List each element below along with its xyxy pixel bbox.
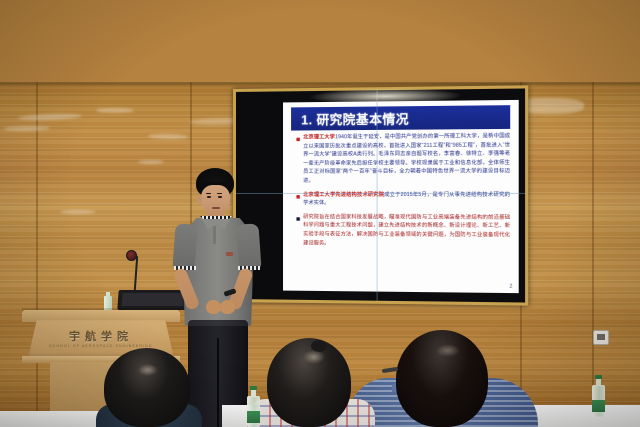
presenter-mouth (212, 207, 220, 209)
slide-title-bar: 1. 研究院基本情况 (291, 105, 510, 130)
audience-member-front-left-head (104, 348, 190, 427)
audience-member-center-head (267, 338, 351, 427)
wall-glare (96, 108, 134, 113)
presentation-slide: 1. 研究院基本情况 ■ 北京理工大学1940年诞生于延安，是中国共产党创办的第… (283, 100, 519, 293)
presenter-ear (197, 195, 202, 204)
bottle-label (592, 400, 605, 412)
water-bottle-table-right (592, 385, 605, 417)
audience-member-right-head (396, 330, 488, 427)
wall-glare (138, 160, 164, 164)
presenter-leg-seam (217, 338, 219, 427)
presenter-eye (207, 196, 211, 198)
video-wall-display[interactable]: 1. 研究院基本情况 ■ 北京理工大学1940年诞生于延安，是中国共产党创办的第… (233, 85, 528, 305)
hair-highlight (138, 364, 158, 376)
light-switch[interactable] (593, 330, 609, 345)
presenter-eye (218, 196, 222, 198)
presenter-sleeve (172, 223, 197, 270)
presenter-sleeve (236, 223, 261, 270)
presenter-placket (213, 226, 216, 244)
presenter-eyebrow (217, 193, 222, 194)
hair-highlight (436, 344, 460, 357)
hair-highlight (303, 350, 325, 364)
presenter-shirt-logo (226, 252, 233, 256)
podium-org-name: 宇航学院 (28, 328, 174, 344)
water-bottle-table-left (247, 396, 260, 427)
presenter-hand (220, 300, 235, 314)
bottle-label (247, 411, 260, 423)
slide-bullet-text: 研究院旨在结合国家科技发展战略，瞄准现代国防与工业高端装备先进结构的前沿基础科学… (303, 213, 510, 249)
slide-bullet: ■ 研究院旨在结合国家科技发展战略，瞄准现代国防与工业高端装备先进结构的前沿基础… (293, 213, 510, 249)
bullet-marker-icon: ■ (293, 213, 303, 248)
slide-title: 1. 研究院基本情况 (301, 108, 409, 128)
presenter-hand (206, 300, 221, 314)
presenter-eyebrow (206, 193, 211, 194)
conference-room-scene: 1. 研究院基本情况 ■ 北京理工大学1940年诞生于延安，是中国共产党创办的第… (0, 0, 640, 427)
slide-bullet-body: 1940年诞生于延安，是中国共产党创办的第一所理工科大学，是新中国成立以来国家历… (303, 133, 510, 184)
bullet-marker-icon: ■ (293, 133, 303, 185)
video-wall-bezel-seam (377, 90, 378, 300)
slide-bullet-highlight: 北京理工大学 (303, 134, 335, 140)
wall-panel-seam (592, 82, 594, 427)
slide-body: ■ 北京理工大学1940年诞生于延安，是中国共产党创办的第一所理工科大学，是新中… (293, 132, 510, 287)
slide-page-number: 2 (509, 284, 512, 290)
video-wall-dark-area (519, 88, 525, 302)
presenter-collar-stripe (200, 216, 232, 219)
presenter-waist-highlight (188, 320, 248, 326)
microphone-icon (126, 250, 137, 261)
video-wall-bezel-seam (236, 193, 525, 194)
slide-bullet: ■ 北京理工大学1940年诞生于延安，是中国共产党创办的第一所理工科大学，是新中… (293, 132, 510, 185)
slide-bullet-text: 北京理工大学1940年诞生于延安，是中国共产党创办的第一所理工科大学，是新中国成… (303, 132, 510, 185)
wall-glare (60, 210, 96, 214)
